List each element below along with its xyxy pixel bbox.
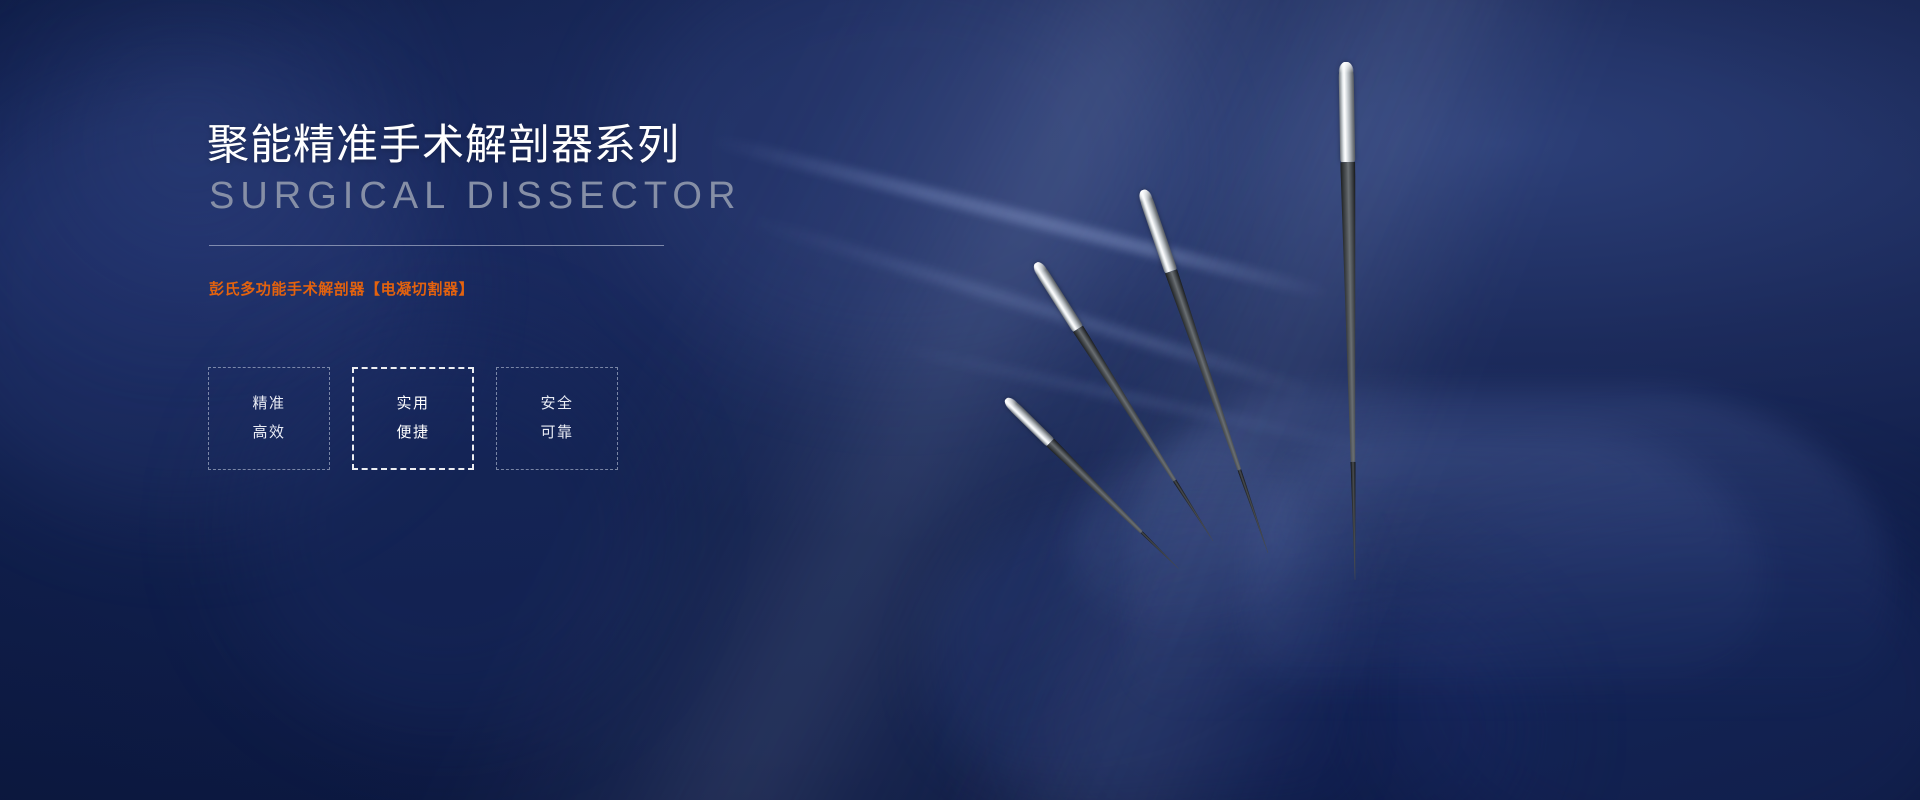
page-title-cn: 聚能精准手术解剖器系列 [207, 121, 680, 168]
feature-badge-group: 精准 高效 实用 便捷 安全 可靠 [208, 367, 618, 470]
feature-label-line1: 实用 [396, 393, 429, 416]
divider [209, 245, 664, 246]
feature-label-line2: 高效 [252, 422, 285, 445]
feature-label-line2: 便捷 [396, 422, 429, 445]
feature-badge-safety: 安全 可靠 [496, 367, 618, 470]
product-hero-banner: 聚能精准手术解剖器系列 SURGICAL DISSECTOR 彭氏多功能手术解剖… [0, 0, 1920, 800]
feature-label-line1: 安全 [540, 393, 573, 416]
feature-badge-practical: 实用 便捷 [352, 367, 474, 470]
product-name-subtitle: 彭氏多功能手术解剖器【电凝切割器】 [209, 278, 474, 299]
hero-text-block: 聚能精准手术解剖器系列 SURGICAL DISSECTOR 彭氏多功能手术解剖… [207, 0, 907, 800]
feature-label-line2: 可靠 [540, 422, 573, 445]
feature-label-line1: 精准 [252, 393, 285, 416]
feature-badge-precision: 精准 高效 [208, 367, 330, 470]
page-title-en: SURGICAL DISSECTOR [209, 175, 741, 218]
